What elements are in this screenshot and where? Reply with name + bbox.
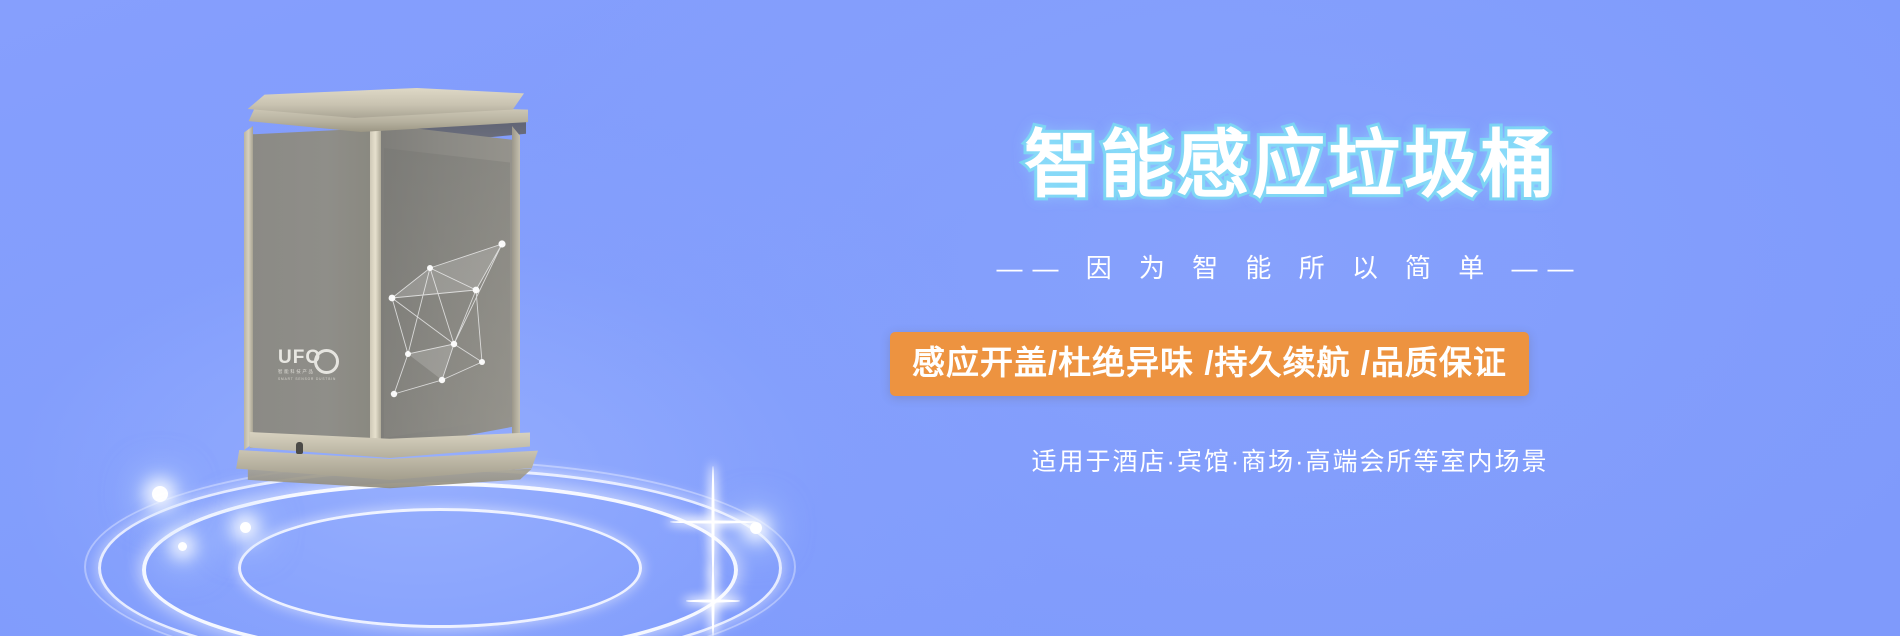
glow-dot-icon xyxy=(178,542,187,551)
ripple-ring-inner xyxy=(238,508,642,628)
base-keyhole-icon xyxy=(296,442,303,454)
brand-logo-ring-icon xyxy=(314,349,339,374)
cabinet-edge-corner xyxy=(370,122,381,454)
product-banner: UFO 智能科技产品 SMART SENSOR DUSTBIN 智能感应垃圾桶 … xyxy=(0,0,1900,636)
cabinet-front-panel xyxy=(250,128,378,448)
smart-trash-can-render: UFO 智能科技产品 SMART SENSOR DUSTBIN xyxy=(240,62,550,482)
sparkle-icon xyxy=(670,466,756,578)
marketing-copy-block: 智能感应垃圾桶 —— 因 为 智 能 所 以 简 单 —— 感应开盖/杜绝异味 … xyxy=(880,0,1880,636)
brand-logo-subtitle: 智能科技产品 xyxy=(278,369,354,375)
usage-scenario-text: 适用于酒店·宾馆·商场·高端会所等室内场景 xyxy=(880,442,1700,478)
glow-dot-icon xyxy=(240,522,251,533)
headline-title: 智能感应垃圾桶 xyxy=(880,128,1700,202)
feature-badge: 感应开盖/杜绝异味 /持久续航 /品质保证 xyxy=(890,332,1529,396)
glow-dot-icon xyxy=(152,486,168,502)
cabinet-edge-left xyxy=(244,126,253,450)
sparkle-icon xyxy=(686,566,740,636)
brand-logo-subtitle-en: SMART SENSOR DUSTBIN xyxy=(278,377,354,381)
brand-logo: UFO 智能科技产品 SMART SENSOR DUSTBIN xyxy=(278,348,354,392)
polygon-network-icon xyxy=(384,148,510,438)
cabinet-edge-right xyxy=(512,126,520,446)
product-visual: UFO 智能科技产品 SMART SENSOR DUSTBIN xyxy=(90,40,790,600)
glass-panel-graphic xyxy=(384,148,510,438)
headline-subtitle: —— 因 为 智 能 所 以 简 单 —— xyxy=(880,248,1700,285)
